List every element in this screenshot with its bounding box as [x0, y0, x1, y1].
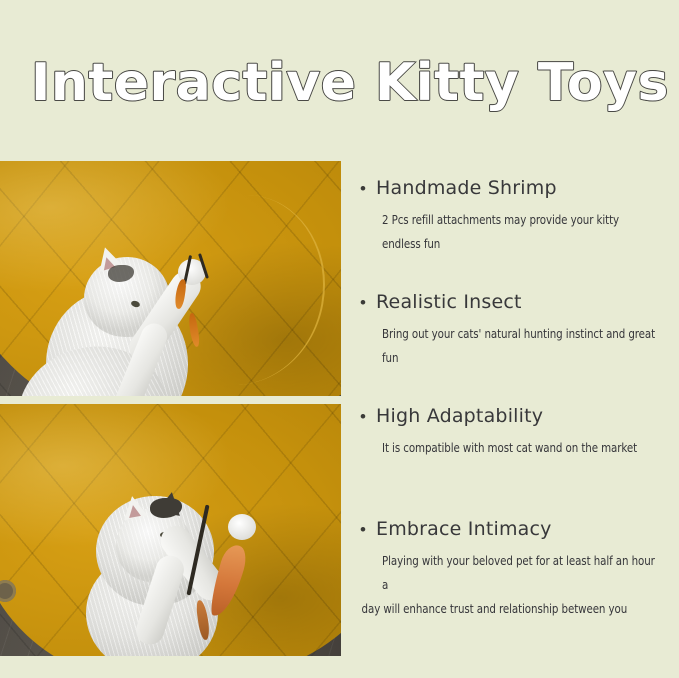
feature-description-line-1: 2 Pcs refill attachments may provide you…: [382, 213, 619, 251]
feature-title: Realistic Insect: [376, 291, 522, 313]
feature-description: Playing with your beloved pet for at lea…: [382, 549, 658, 621]
product-feature-page: { "page": { "title": "Interactive Kitty …: [0, 0, 679, 678]
feature-title: Handmade Shrimp: [376, 177, 557, 199]
feature-title: High Adaptability: [376, 405, 543, 427]
product-photo-cat-hugging-shrimp-toy: [0, 404, 341, 656]
feature-item-high-adaptability: • High Adaptability It is compatible wit…: [360, 405, 679, 460]
bullet-icon: •: [360, 294, 376, 311]
feature-item-embrace-intimacy: • Embrace Intimacy Playing with your bel…: [360, 518, 679, 621]
product-photo-cat-playing-with-feather-wand: [0, 161, 341, 396]
feature-description: 2 Pcs refill attachments may provide you…: [382, 208, 658, 256]
feature-description: It is compatible with most cat wand on t…: [382, 436, 658, 460]
feature-description: Bring out your cats' natural hunting ins…: [382, 322, 658, 370]
feature-heading: • Embrace Intimacy: [360, 518, 679, 540]
product-image-column: [0, 161, 341, 656]
feature-description-line-1: Bring out your cats' natural hunting ins…: [382, 327, 655, 365]
feature-item-handmade-shrimp: • Handmade Shrimp 2 Pcs refill attachmen…: [360, 177, 679, 256]
feature-item-realistic-insect: • Realistic Insect Bring out your cats' …: [360, 291, 679, 370]
bullet-icon: •: [360, 408, 376, 425]
feature-heading: • Handmade Shrimp: [360, 177, 679, 199]
bullet-icon: •: [360, 521, 376, 538]
bullet-icon: •: [360, 180, 376, 197]
title-banner: Interactive Kitty Toys: [0, 44, 679, 130]
feature-heading: • Realistic Insect: [360, 291, 679, 313]
feature-title: Embrace Intimacy: [376, 518, 552, 540]
feature-description-line-1: Playing with your beloved pet for at lea…: [382, 554, 655, 592]
page-title: Interactive Kitty Toys: [31, 44, 669, 122]
feature-description-line-2: day will enhance trust and relationship …: [362, 597, 659, 621]
feature-description-line-1: It is compatible with most cat wand on t…: [382, 441, 637, 455]
feature-heading: • High Adaptability: [360, 405, 679, 427]
